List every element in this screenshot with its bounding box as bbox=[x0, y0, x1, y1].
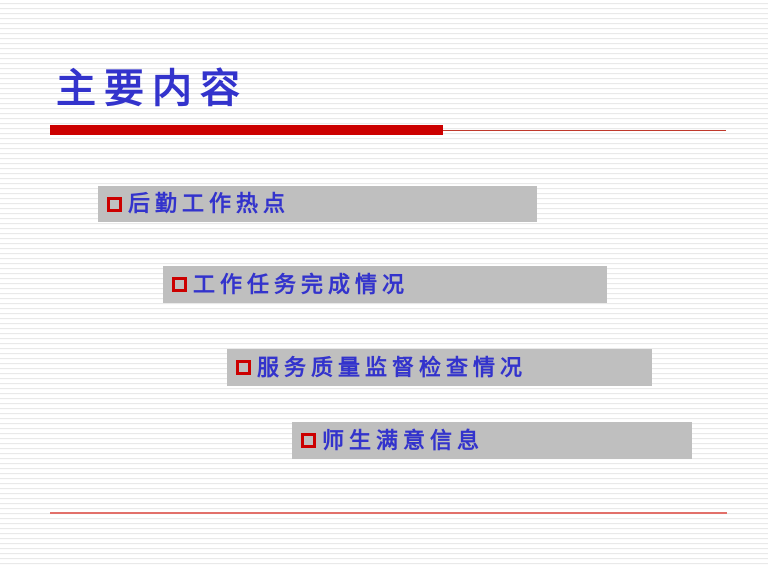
presentation-slide: 主要内容 后勤工作热点 工作任务完成情况 服务质量监督检查情况 师生满意信息 bbox=[0, 0, 768, 567]
square-bullet-icon bbox=[172, 277, 187, 292]
title-underline-accent-bar bbox=[50, 125, 443, 135]
list-item-label: 师生满意信息 bbox=[322, 430, 484, 452]
footer-divider bbox=[50, 512, 727, 514]
list-item[interactable]: 工作任务完成情况 bbox=[163, 266, 607, 303]
list-item[interactable]: 服务质量监督检查情况 bbox=[227, 349, 652, 386]
list-item-label: 后勤工作热点 bbox=[128, 193, 290, 215]
square-bullet-icon bbox=[236, 360, 251, 375]
list-item[interactable]: 后勤工作热点 bbox=[98, 186, 537, 222]
list-item-label: 工作任务完成情况 bbox=[193, 274, 409, 296]
list-item-label: 服务质量监督检查情况 bbox=[257, 357, 527, 379]
page-title: 主要内容 bbox=[56, 66, 248, 112]
square-bullet-icon bbox=[301, 433, 316, 448]
list-item[interactable]: 师生满意信息 bbox=[292, 422, 692, 459]
square-bullet-icon bbox=[107, 197, 122, 212]
